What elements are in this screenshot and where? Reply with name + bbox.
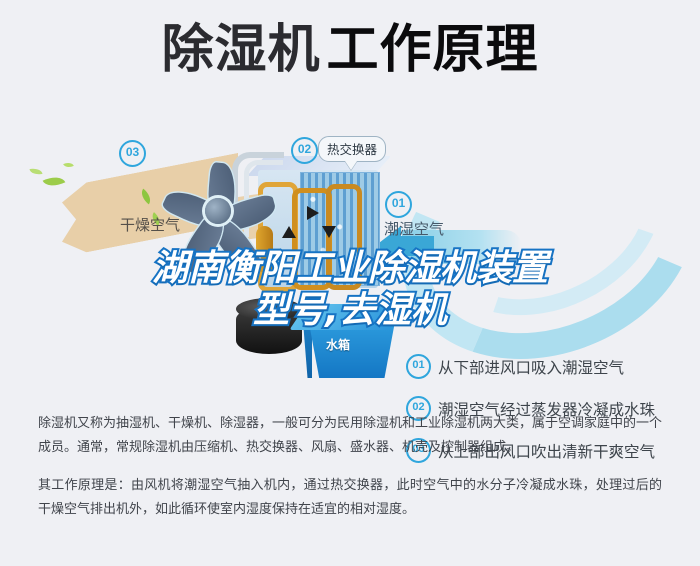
flow-arrow-right-icon <box>307 206 319 220</box>
page-root: 除湿机工作原理 <box>0 0 700 566</box>
callout-badge-01: 01 <box>385 191 412 218</box>
watermark-overlay: 湖南衡阳工业除湿机装置 型号,去湿机 <box>0 248 700 332</box>
article-paragraph-2-body: 由风机将潮湿空气抽入机内，通过热交换器，此时空气中的水分子冷凝成水珠，处理过后的… <box>38 478 662 517</box>
article-body: 除湿机又称为抽湿机、干燥机、除湿器，一般可分为民用除湿机和工业除湿机两大类，属于… <box>0 412 700 534</box>
page-title-part1: 除湿机 <box>161 20 320 80</box>
article-paragraph-2-lead: 其工作原理是： <box>38 478 131 493</box>
leaf-icon <box>63 160 74 169</box>
callout-badge-02: 02 <box>291 137 318 164</box>
fan-hub <box>205 198 231 224</box>
legend-text-01: 从下部进风口吸入潮湿空气 <box>438 356 624 378</box>
page-title-part2: 工作原理 <box>327 20 539 80</box>
moist-air-label: 潮湿空气 <box>384 218 444 239</box>
leaf-icon <box>29 167 42 176</box>
flow-arrow-down-icon <box>322 226 336 238</box>
heat-exchanger-callout-bubble: 热交换器 <box>318 136 386 162</box>
page-title: 除湿机工作原理 <box>0 18 700 82</box>
water-tank-label: 水箱 <box>326 336 350 353</box>
leaf-icon <box>43 172 66 190</box>
article-paragraph-1: 除湿机又称为抽湿机、干燥机、除湿器，一般可分为民用除湿机和工业除湿机两大类，属于… <box>38 412 662 460</box>
legend-item: 01 从下部进风口吸入潮湿空气 <box>406 354 696 379</box>
watermark-line-1: 湖南衡阳工业除湿机装置 <box>0 248 700 290</box>
dry-air-label: 干燥空气 <box>120 214 180 235</box>
watermark-line-2: 型号,去湿机 <box>0 290 700 332</box>
legend-badge-01: 01 <box>406 354 431 379</box>
article-paragraph-2: 其工作原理是：由风机将潮湿空气抽入机内，通过热交换器，此时空气中的水分子冷凝成水… <box>38 474 662 522</box>
callout-badge-03: 03 <box>119 140 146 167</box>
